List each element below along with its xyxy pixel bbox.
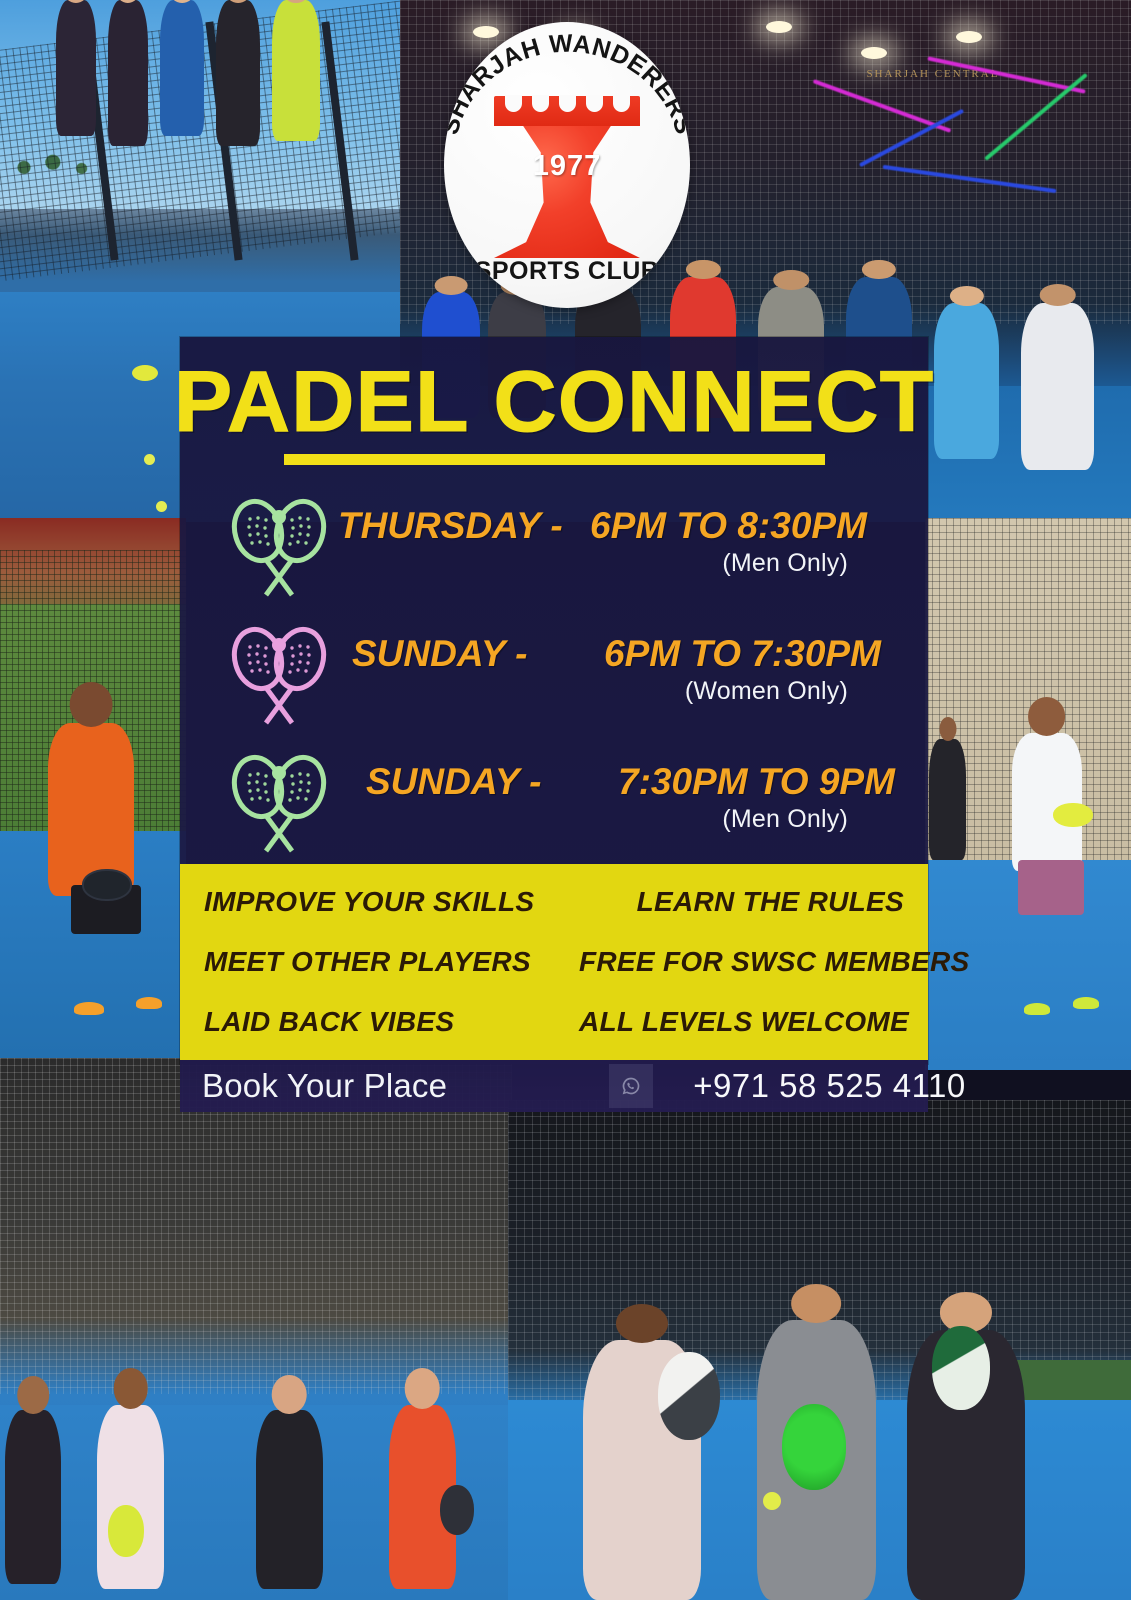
schedule-time: 6PM TO 7:30PM [604,633,881,675]
title-block: PADEL CONNECT [180,337,928,465]
benefit-item: FREE FOR SWSC MEMBERS [579,946,978,978]
player-silhouette [160,0,204,136]
white-racket [658,1352,720,1440]
benefit-item: MEET OTHER PLAYERS [204,946,579,978]
sharjah-wanderers-logo: SHARJAH WANDERERS 1977 SPORTS CLUB [444,22,690,308]
schedule-note: (Men Only) [338,549,906,578]
schedule-time: 7:30PM TO 9PM [618,761,895,803]
logo-founding-year: 1977 [533,150,602,183]
crossed-padel-rackets-icon [220,623,338,727]
photo-player-white-tank [925,518,1131,1070]
schedule-day: SUNDAY - [338,761,618,803]
benefit-item: LEARN THE RULES [579,886,912,918]
logo-bottom-text: SPORTS CLUB [444,257,690,286]
booking-label: Book Your Place [202,1067,447,1105]
player-silhouette [108,0,148,146]
green-racket [932,1326,990,1410]
crossed-padel-rackets-icon [220,751,338,855]
schedule-row: SUNDAY - 6PM TO 7:30PM (Women Only) [220,619,906,747]
padel-ball [144,454,155,465]
schedule-time: 6PM TO 8:30PM [590,505,867,547]
player-silhouette [5,1410,61,1583]
schedule-note: (Men Only) [338,805,906,834]
benefit-item: ALL LEVELS WELCOME [579,1006,917,1038]
dark-racket [440,1485,474,1535]
orange-shoe [136,997,162,1009]
benefit-item: LAID BACK VIBES [204,1006,579,1038]
tower-crenellations [494,96,640,126]
page-title: PADEL CONNECT [173,363,936,442]
schedule-line: SUNDAY - 7:30PM TO 9PM [338,761,906,803]
orange-shoe [74,1002,104,1015]
schedule-text: SUNDAY - 6PM TO 7:30PM (Women Only) [338,619,906,706]
phone-number[interactable]: +971 58 525 4110 [693,1067,966,1105]
floodlight [766,21,792,33]
crossed-padel-rackets-icon [220,495,338,599]
benefits-row: IMPROVE YOUR SKILLS LEARN THE RULES [180,872,928,932]
green-shoe [1024,1003,1050,1015]
yellow-racket [1053,803,1093,827]
padel-connect-poster: SHARJAH CENTRAL [0,0,1131,1600]
title-underline [284,454,825,465]
schedule-line: THURSDAY - 6PM TO 8:30PM [338,505,906,547]
schedule-row: SUNDAY - 7:30PM TO 9PM (Men Only) [220,747,906,875]
photo-player-orange-jersey [0,518,186,1058]
benefits-row: LAID BACK VIBES ALL LEVELS WELCOME [180,992,928,1052]
green-racket [782,1404,846,1490]
booking-bar: Book Your Place +971 58 525 4110 [180,1060,928,1112]
whatsapp-icon[interactable] [609,1064,653,1108]
player-silhouette [216,0,260,146]
schedule-row: THURSDAY - 6PM TO 8:30PM (Men Only) [220,491,906,619]
schedule-day: THURSDAY - [338,505,590,547]
schedule-text: THURSDAY - 6PM TO 8:30PM (Men Only) [338,491,906,578]
player-silhouette [97,1405,164,1589]
player-silhouette [256,1410,323,1589]
benefit-item: IMPROVE YOUR SKILLS [204,886,579,918]
player-silhouette [934,303,1000,460]
player-silhouette [48,723,134,896]
schedule-line: SUNDAY - 6PM TO 7:30PM [338,633,906,675]
schedule-text: SUNDAY - 7:30PM TO 9PM (Men Only) [338,747,906,834]
tower-body [494,126,640,258]
schedule-list: THURSDAY - 6PM TO 8:30PM (Men Only) [180,491,928,875]
padel-ball [156,501,167,512]
player-silhouette [56,0,96,136]
dark-racket [82,869,132,901]
player-silhouette [1021,303,1094,470]
benefits-row: MEET OTHER PLAYERS FREE FOR SWSC MEMBERS [180,932,928,992]
photo-three-women-rackets [508,1100,1131,1600]
yellow-racket [132,365,158,381]
floodlight [861,47,887,59]
benefits-band: IMPROVE YOUR SKILLS LEARN THE RULES MEET… [180,864,928,1060]
player-silhouette [929,739,966,860]
player-shorts [1018,860,1084,915]
green-shoe [1073,997,1099,1009]
schedule-note: (Women Only) [338,677,906,706]
yellow-racket [108,1505,144,1557]
photo-womens-group-court [0,1058,512,1600]
player-silhouette [272,0,320,141]
schedule-day: SUNDAY - [338,633,604,675]
